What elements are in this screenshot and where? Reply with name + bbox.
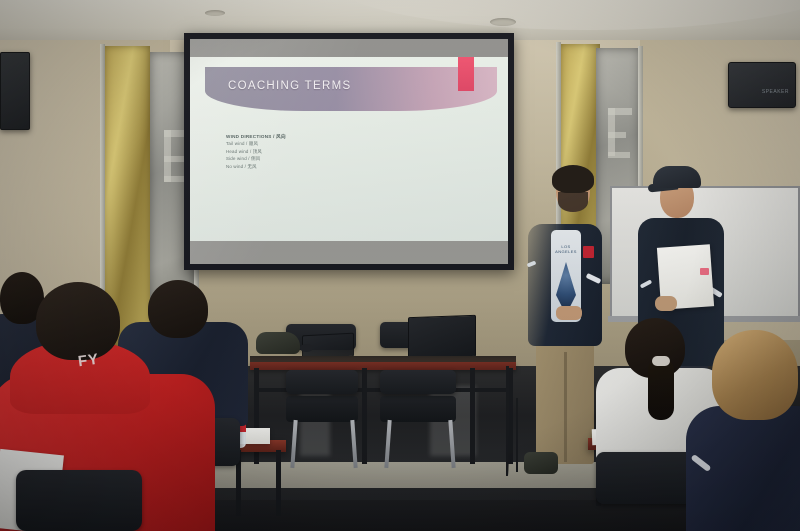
hair-tie (652, 356, 670, 366)
equipment-case (524, 452, 558, 474)
table-leg (470, 368, 475, 464)
student-head (148, 280, 208, 338)
slide-bullet: No wind / 无风 (226, 163, 466, 170)
presenter-beard (558, 192, 588, 212)
slide-section-heading: WIND DIRECTIONS / 风向 (226, 133, 466, 140)
table-edge (250, 362, 516, 370)
slide: COACHING TERMS WIND DIRECTIONS / 风向 Tail… (190, 57, 508, 241)
student-hair (712, 330, 798, 420)
presenter-hair (552, 165, 594, 193)
baseball-cap (653, 166, 701, 188)
chair-back (380, 370, 456, 394)
slide-bullet: Head wind / 顶风 (226, 148, 466, 155)
paper-marking (700, 268, 709, 275)
ceiling-vent-icon (490, 18, 516, 26)
slide-bullet: Tail wind / 顺风 (226, 140, 466, 147)
chair-seat (286, 396, 358, 422)
bag (256, 332, 300, 354)
laptop-screen[interactable] (408, 315, 476, 359)
mouse[interactable] (300, 344, 313, 352)
trouser-seam (564, 352, 567, 462)
chair-back (16, 470, 142, 531)
presenter-hand (655, 296, 677, 311)
wall-speaker-left (0, 52, 30, 130)
wall-speaker-right: SPEAKER (728, 62, 796, 108)
decor-motif (608, 132, 626, 138)
slide-body: WIND DIRECTIONS / 风向 Tail wind / 顺风 Head… (226, 133, 466, 170)
speaker-brand-label: SPEAKER (762, 89, 789, 95)
ceiling-vent-icon (205, 10, 225, 16)
decor-motif (608, 152, 630, 158)
hoodie-text: FY (77, 351, 100, 371)
slide-title: COACHING TERMS (228, 80, 351, 92)
chair-back (286, 370, 358, 394)
decor-motif (164, 156, 184, 162)
projection-screen: COACHING TERMS WIND DIRECTIONS / 风向 Tail… (190, 39, 508, 264)
chair-seat (380, 396, 456, 422)
student-head (36, 282, 120, 360)
power-cable (516, 398, 518, 472)
table-leg (362, 368, 367, 464)
jacket-badge (583, 246, 594, 258)
desk-leg (276, 450, 281, 516)
tshirt-text: LOS ANGELES (553, 244, 579, 254)
power-cable (506, 366, 509, 476)
slide-bullet: Side wind / 侧风 (226, 155, 466, 162)
ponytail (648, 358, 674, 420)
slide-accent-block (458, 57, 474, 91)
classroom-photo: SPEAKER COACHING TERMS WIND DIRECTIONS /… (0, 0, 800, 531)
presenter-hands (556, 306, 582, 320)
